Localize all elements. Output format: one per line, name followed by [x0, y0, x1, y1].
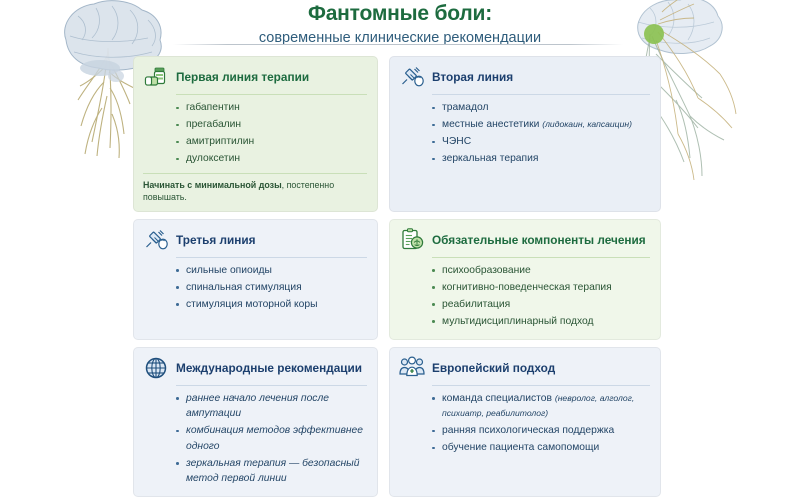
- card-title: Первая линия терапии: [176, 70, 309, 84]
- card-item-list: сильные опиоиды спинальная стимуляция ст…: [143, 263, 367, 313]
- card-header: Вторая линия: [399, 64, 650, 94]
- card-item-list: команда специалистов (невролог, алголог,…: [399, 391, 650, 456]
- card-title-rule: [176, 385, 367, 386]
- syringe-icon: [143, 227, 169, 253]
- card-title-rule: [432, 257, 650, 258]
- card-international-recommendations[interactable]: Международные рекомендации раннее начало…: [133, 347, 378, 497]
- list-item: трамадол: [432, 100, 650, 116]
- list-item: сильные опиоиды: [176, 263, 367, 279]
- cerebellum-left: [80, 60, 120, 76]
- card-second-line[interactable]: Вторая линия трамадол местные анестетики…: [389, 56, 661, 212]
- card-title-rule: [176, 94, 367, 95]
- card-title: Обязательные компоненты лечения: [432, 233, 646, 247]
- list-item: реабилитация: [432, 297, 650, 313]
- list-item: зеркальная терапия: [432, 151, 650, 167]
- card-third-line[interactable]: Третья линия сильные опиоиды спинальная …: [133, 219, 378, 340]
- list-item: стимуляция моторной коры: [176, 297, 367, 313]
- list-item: комбинация методов эффективнее одного: [176, 423, 367, 454]
- clipboard-brain-icon: [399, 227, 425, 253]
- list-item: местные анестетики (лидокаин, капсаицин): [432, 117, 650, 133]
- syringe-icon: [399, 64, 425, 90]
- card-first-line-therapy[interactable]: Первая линия терапии габапентин прегабал…: [133, 56, 378, 212]
- card-header: Обязательные компоненты лечения: [399, 227, 650, 257]
- card-title: Международные рекомендации: [176, 361, 362, 375]
- card-title: Вторая линия: [432, 70, 513, 84]
- card-european-approach[interactable]: Европейский подход команда специалистов …: [389, 347, 661, 497]
- header-divider: [173, 44, 623, 45]
- page-subtitle: современные клинические рекомендации: [0, 28, 800, 48]
- card-header: Третья линия: [143, 227, 367, 257]
- list-item: спинальная стимуляция: [176, 280, 367, 296]
- recommendations-grid: Первая линия терапии габапентин прегабал…: [133, 56, 661, 497]
- brainstem-left: [108, 70, 124, 82]
- card-item-list: раннее начало лечения после ампутации ко…: [143, 391, 367, 487]
- footer-emphasis: Начинать с минимальной дозы: [143, 180, 282, 190]
- care-team-icon: [399, 355, 425, 381]
- list-item: психообразование: [432, 263, 650, 279]
- list-item: дулоксетин: [176, 151, 367, 167]
- list-item: команда специалистов (невролог, алголог,…: [432, 391, 650, 422]
- list-item: когнитивно-поведенческая терапия: [432, 280, 650, 296]
- list-item: ранняя психологическая поддержка: [432, 423, 650, 439]
- list-item: мультидисциплинарный подход: [432, 314, 650, 330]
- list-item: прегабалин: [176, 117, 367, 133]
- card-item-list: трамадол местные анестетики (лидокаин, к…: [399, 100, 650, 167]
- card-header: Первая линия терапии: [143, 64, 367, 94]
- card-footer-note: Начинать с минимальной дозы, постепенно …: [143, 173, 367, 203]
- list-item: ЧЭНС: [432, 134, 650, 150]
- list-item: амитриптилин: [176, 134, 367, 150]
- globe-icon: [143, 355, 169, 381]
- page-title: Фантомные боли:: [0, 2, 800, 26]
- card-title-rule: [176, 257, 367, 258]
- card-title: Европейский подход: [432, 361, 555, 375]
- card-title-rule: [432, 385, 650, 386]
- pill-bottle-icon: [143, 64, 169, 90]
- card-item-list: габапентин прегабалин амитриптилин дулок…: [143, 100, 367, 167]
- list-item: обучение пациента самопомощи: [432, 440, 650, 456]
- card-header: Европейский подход: [399, 355, 650, 385]
- list-item: раннее начало лечения после ампутации: [176, 391, 367, 422]
- card-header: Международные рекомендации: [143, 355, 367, 385]
- list-item-detail: (лидокаин, капсаицин): [542, 119, 632, 129]
- nerve-roots-left: [78, 48, 134, 158]
- card-mandatory-components[interactable]: Обязательные компоненты лечения психообр…: [389, 219, 661, 340]
- card-item-list: психообразование когнитивно-поведенческа…: [399, 263, 650, 330]
- list-item: габапентин: [176, 100, 367, 116]
- list-item: зеркальная терапия — безопасный метод пе…: [176, 456, 367, 487]
- card-title-rule: [432, 94, 650, 95]
- card-title: Третья линия: [176, 233, 256, 247]
- infographic-header: Фантомные боли: современные клинические …: [0, 2, 800, 48]
